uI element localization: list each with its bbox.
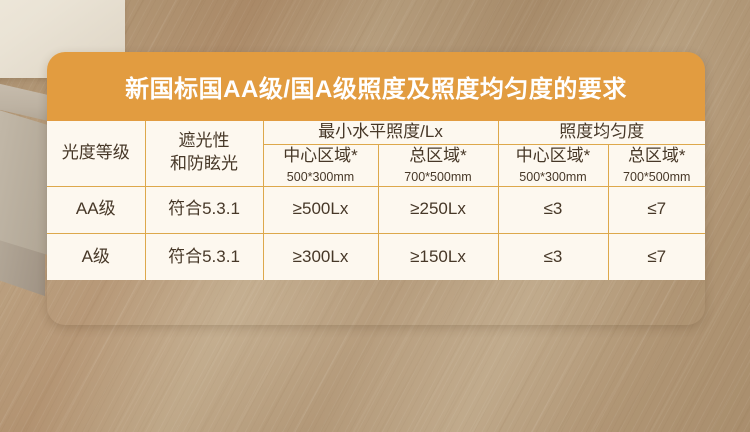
table-row: AA级 符合5.3.1 ≥500Lx ≥250Lx ≤3 ≤7 (47, 186, 705, 233)
header-shading-line2: 和防眩光 (148, 153, 261, 176)
subheader-uniform-center-area: 中心区域* 500*300mm (498, 144, 608, 186)
header-shading-line1: 遮光性 (148, 130, 261, 153)
cell-shading-aa: 符合5.3.1 (145, 186, 263, 233)
subheader-min-center-area: 中心区域* 500*300mm (263, 144, 378, 186)
cell-shading-a: 符合5.3.1 (145, 233, 263, 280)
table-row: A级 符合5.3.1 ≥300Lx ≥150Lx ≤3 ≤7 (47, 233, 705, 280)
header-shading-antiglare: 遮光性 和防眩光 (145, 121, 263, 186)
cell-uniform-center-aa: ≤3 (498, 186, 608, 233)
cell-uniform-total-a: ≤7 (608, 233, 705, 280)
subheader-uniform-total-dimension: 700*500mm (611, 169, 704, 186)
group-header-min-horizontal-illuminance: 最小水平照度/Lx (263, 121, 498, 144)
subheader-min-total-name: 总区域* (381, 145, 496, 168)
group-header-illuminance-uniformity: 照度均匀度 (498, 121, 705, 144)
subheader-min-total-area: 总区域* 700*500mm (378, 144, 498, 186)
subheader-min-total-dimension: 700*500mm (381, 169, 496, 186)
illuminance-spec-table: 光度等级 遮光性 和防眩光 最小水平照度/Lx 照度均匀度 中心区域* 500*… (47, 121, 705, 280)
header-photometric-grade: 光度等级 (47, 121, 145, 186)
subheader-uniform-center-name: 中心区域* (501, 145, 606, 168)
spec-table-card: 新国标国AA级/国A级照度及照度均匀度的要求 光度等级 遮光性 和防眩光 最小水… (47, 52, 705, 325)
subheader-uniform-total-area: 总区域* 700*500mm (608, 144, 705, 186)
cell-min-total-aa: ≥250Lx (378, 186, 498, 233)
cell-uniform-center-a: ≤3 (498, 233, 608, 280)
cell-grade-aa: AA级 (47, 186, 145, 233)
cell-min-center-aa: ≥500Lx (263, 186, 378, 233)
subheader-min-center-name: 中心区域* (266, 145, 376, 168)
cell-min-center-a: ≥300Lx (263, 233, 378, 280)
subheader-uniform-center-dimension: 500*300mm (501, 169, 606, 186)
cell-grade-a: A级 (47, 233, 145, 280)
cell-uniform-total-aa: ≤7 (608, 186, 705, 233)
cell-min-total-a: ≥150Lx (378, 233, 498, 280)
subheader-uniform-total-name: 总区域* (611, 145, 704, 168)
subheader-min-center-dimension: 500*300mm (266, 169, 376, 186)
table-header-row-group: 光度等级 遮光性 和防眩光 最小水平照度/Lx 照度均匀度 (47, 121, 705, 144)
page-title: 新国标国AA级/国A级照度及照度均匀度的要求 (47, 52, 705, 121)
